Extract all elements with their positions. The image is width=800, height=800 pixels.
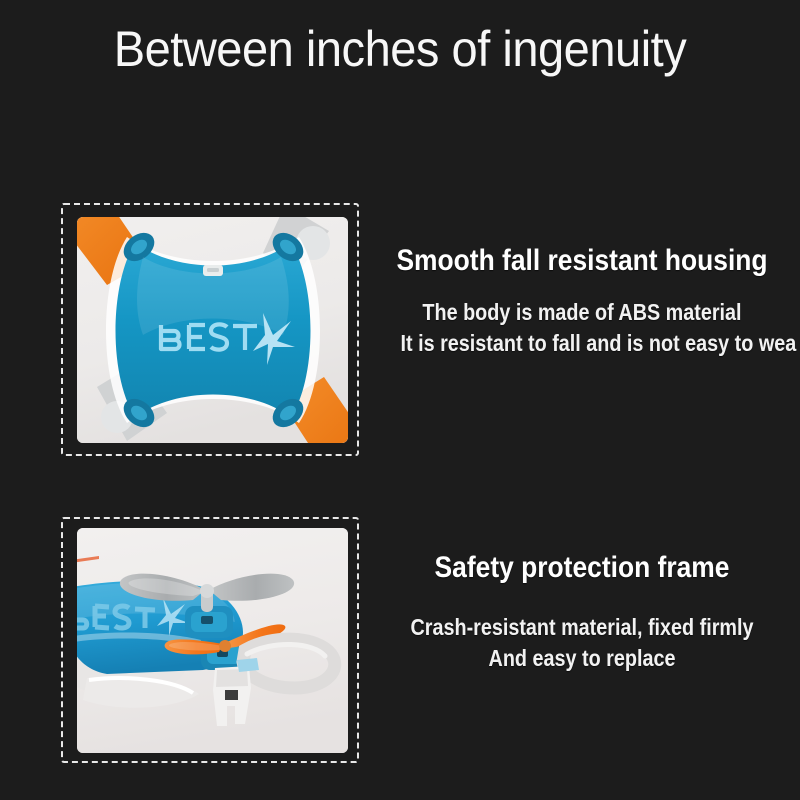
feature-description: The body is made of ABS material It is r…	[364, 297, 800, 359]
feature-text-guard: Safety protection frame Crash-resistant …	[364, 550, 800, 674]
drone-propeller-guard-photo	[77, 528, 348, 753]
feature-title: Smooth fall resistant housing	[390, 243, 774, 279]
feature-line: It is resistant to fall and is not easy …	[401, 328, 776, 359]
feature-text-housing: Smooth fall resistant housing The body i…	[364, 243, 800, 359]
feature-line: Crash-resistant material, fixed firmly	[395, 612, 770, 643]
feature-line: And easy to replace	[395, 643, 770, 674]
feature-description: Crash-resistant material, fixed firmly A…	[364, 612, 800, 674]
feature-block-housing: Smooth fall resistant housing The body i…	[0, 195, 800, 465]
product-feature-page: Between inches of ingenuity	[0, 0, 800, 800]
feature-line: The body is made of ABS material	[395, 297, 770, 328]
feature-block-guard: Safety protection frame Crash-resistant …	[0, 512, 800, 772]
drone-top-view-photo	[77, 217, 348, 443]
page-title: Between inches of ingenuity	[24, 20, 776, 78]
feature-title: Safety protection frame	[390, 550, 774, 586]
